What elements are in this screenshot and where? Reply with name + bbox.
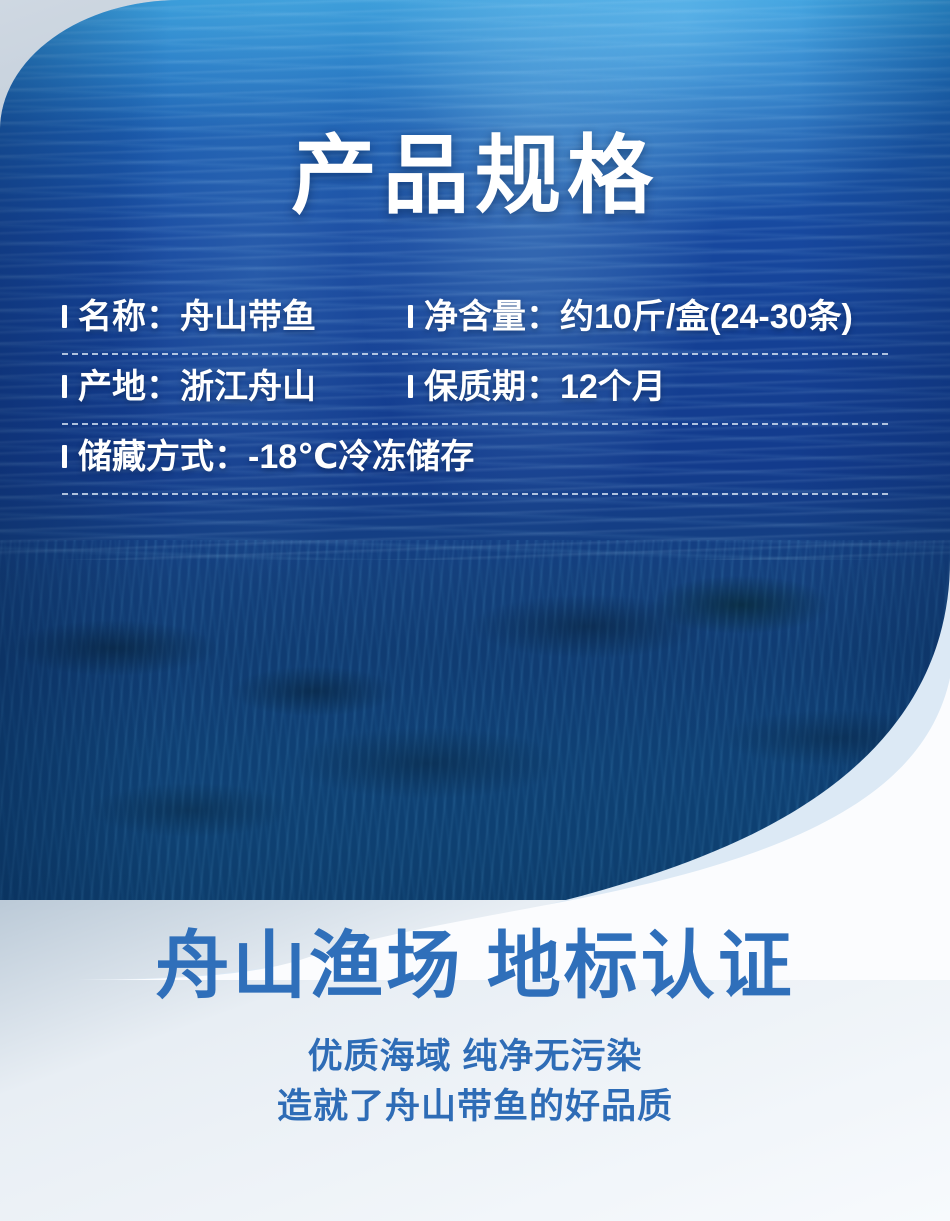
bullet-icon — [62, 375, 67, 398]
spec-item-net-content: 净含量：约10斤/盒(24-30条) — [408, 289, 853, 338]
spec-text: 名称：舟山带鱼 — [78, 289, 316, 338]
bullet-icon — [408, 305, 413, 328]
footer-subtitle: 优质海域 纯净无污染 造就了舟山带鱼的好品质 — [0, 1032, 950, 1131]
footer-subtitle-line-1: 优质海域 纯净无污染 — [0, 1032, 950, 1082]
product-spec-poster: 产品规格 名称：舟山带鱼 净含量：约10斤/盒(24-30条) 产地：浙江舟山 … — [0, 0, 950, 1221]
wave-divider — [0, 560, 950, 980]
spec-text: 净含量：约10斤/盒(24-30条) — [424, 289, 853, 338]
spec-row: 名称：舟山带鱼 净含量：约10斤/盒(24-30条) — [62, 285, 888, 355]
bullet-icon — [62, 445, 67, 468]
spec-item-name: 名称：舟山带鱼 — [62, 289, 316, 338]
spec-list: 名称：舟山带鱼 净含量：约10斤/盒(24-30条) 产地：浙江舟山 保质期：1… — [62, 285, 888, 495]
bullet-icon — [62, 305, 67, 328]
spec-row: 产地：浙江舟山 保质期：12个月 — [62, 355, 888, 425]
spec-text: 产地：浙江舟山 — [78, 359, 316, 408]
spec-divider — [62, 493, 888, 495]
bullet-icon — [408, 375, 413, 398]
spec-item-storage: 储藏方式：-18℃冷冻储存 — [62, 429, 474, 478]
footer-title: 舟山渔场 地标认证 — [0, 925, 950, 1006]
spec-row: 储藏方式：-18℃冷冻储存 — [62, 425, 888, 495]
page-title: 产品规格 — [0, 105, 950, 230]
footer-subtitle-line-2: 造就了舟山带鱼的好品质 — [0, 1082, 950, 1132]
spec-item-origin: 产地：浙江舟山 — [62, 359, 316, 408]
spec-text: 储藏方式：-18℃冷冻储存 — [78, 429, 474, 478]
spec-text: 保质期：12个月 — [424, 359, 666, 408]
footer-section: 舟山渔场 地标认证 优质海域 纯净无污染 造就了舟山带鱼的好品质 — [0, 925, 950, 1132]
spec-item-shelf-life: 保质期：12个月 — [408, 359, 666, 408]
